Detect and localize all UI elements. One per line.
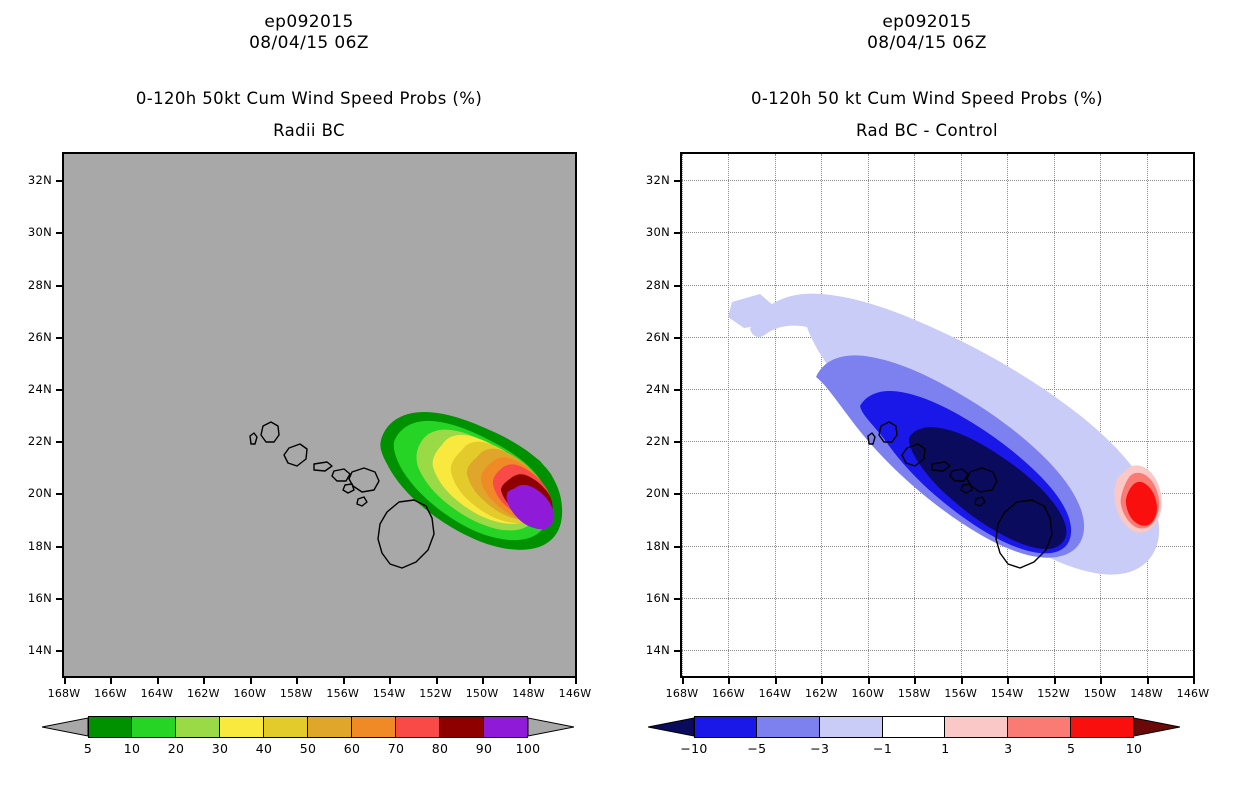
colorbar-tick-label: 3 xyxy=(986,742,1030,756)
colorbar-tick-label: 10 xyxy=(1112,742,1156,756)
y-tick-label: 20N xyxy=(610,488,670,499)
x-tick-label: 146W xyxy=(549,688,601,699)
map-area-left[interactable] xyxy=(62,152,577,678)
x-tick-label: 156W xyxy=(935,688,987,699)
x-tick-mark xyxy=(1007,678,1009,684)
plot-title-left: 0-120h 50kt Cum Wind Speed Probs (%) xyxy=(0,88,618,109)
colorbar-tick-label: 10 xyxy=(110,742,154,756)
y-tick-label: 20N xyxy=(0,488,52,499)
y-tick-label: 14N xyxy=(610,645,670,656)
x-tick-label: 154W xyxy=(981,688,1033,699)
x-tick-mark xyxy=(250,678,252,684)
y-tick-label: 26N xyxy=(0,332,52,343)
colorbar-segment xyxy=(1071,716,1134,738)
colorbar-tick-label: 30 xyxy=(198,742,242,756)
colorbar-segment xyxy=(352,716,396,738)
x-tick-label: 166W xyxy=(84,688,136,699)
colorbar-segment xyxy=(308,716,352,738)
x-tick-label: 162W xyxy=(177,688,229,699)
x-tick-mark xyxy=(868,678,870,684)
plot-subtitle-right: Rad BC - Control xyxy=(618,120,1236,141)
y-tick-label: 28N xyxy=(610,280,670,291)
y-tick-label: 16N xyxy=(610,593,670,604)
x-tick-mark xyxy=(343,678,345,684)
x-tick-label: 158W xyxy=(270,688,322,699)
colorbar-segment xyxy=(88,716,132,738)
colorbar-tick-label: 100 xyxy=(506,742,550,756)
x-tick-label: 168W xyxy=(656,688,708,699)
colorbar-segment xyxy=(396,716,440,738)
x-tick-label: 156W xyxy=(317,688,369,699)
plot-subtitle-left: Radii BC xyxy=(0,120,618,141)
x-tick-mark xyxy=(203,678,205,684)
y-tick-label: 30N xyxy=(0,227,52,238)
colorbar-cap-high-left xyxy=(528,716,574,738)
x-tick-mark xyxy=(389,678,391,684)
y-tick-label: 18N xyxy=(610,541,670,552)
x-tick-mark xyxy=(1054,678,1056,684)
x-tick-mark xyxy=(64,678,66,684)
date-label-left: 08/04/15 06Z xyxy=(0,33,618,54)
panel-rad-bc-control: ep092015 08/04/15 06Z 0-120h 50 kt Cum W… xyxy=(618,0,1236,800)
x-tick-label: 160W xyxy=(842,688,894,699)
colorbar-segment xyxy=(484,716,528,738)
colorbar-segment xyxy=(220,716,264,738)
y-tick-label: 24N xyxy=(610,384,670,395)
x-tick-mark xyxy=(1100,678,1102,684)
map-area-right[interactable] xyxy=(680,152,1195,678)
colorbar-tick-label: 5 xyxy=(66,742,110,756)
colorbar-segment xyxy=(176,716,220,738)
y-tick-label: 30N xyxy=(610,227,670,238)
plot-title-right: 0-120h 50 kt Cum Wind Speed Probs (%) xyxy=(618,88,1236,109)
x-tick-mark xyxy=(157,678,159,684)
colorbar-segment xyxy=(1008,716,1071,738)
y-tick-label: 22N xyxy=(610,436,670,447)
colorbar-tick-label: 50 xyxy=(286,742,330,756)
x-tick-label: 168W xyxy=(38,688,90,699)
x-tick-mark xyxy=(436,678,438,684)
difference-field-right xyxy=(682,154,1193,676)
colorbar-segment xyxy=(132,716,176,738)
x-tick-label: 148W xyxy=(503,688,555,699)
prob-contours xyxy=(380,188,570,550)
colorbar-segment xyxy=(945,716,1008,738)
x-tick-label: 158W xyxy=(888,688,940,699)
x-tick-label: 146W xyxy=(1167,688,1219,699)
x-tick-mark xyxy=(728,678,730,684)
x-tick-label: 162W xyxy=(795,688,847,699)
colorbar-cap-low-left xyxy=(42,716,88,738)
x-tick-label: 150W xyxy=(456,688,508,699)
x-tick-mark xyxy=(961,678,963,684)
colorbar-segment xyxy=(440,716,484,738)
x-tick-label: 154W xyxy=(363,688,415,699)
x-tick-label: 166W xyxy=(702,688,754,699)
date-label-right: 08/04/15 06Z xyxy=(618,33,1236,54)
y-tick-label: 28N xyxy=(0,280,52,291)
x-tick-mark xyxy=(1193,678,1195,684)
x-tick-label: 160W xyxy=(224,688,276,699)
x-tick-mark xyxy=(914,678,916,684)
contour-field-left xyxy=(64,154,575,676)
colorbar-segments-left xyxy=(88,716,528,738)
colorbar-segment xyxy=(820,716,883,738)
gridline-vertical xyxy=(1193,154,1194,676)
colorbar-tick-label: 5 xyxy=(1049,742,1093,756)
y-tick-label: 14N xyxy=(0,645,52,656)
x-tick-label: 150W xyxy=(1074,688,1126,699)
colorbar-cap-low-right xyxy=(648,716,694,738)
y-tick-label: 26N xyxy=(610,332,670,343)
x-tick-mark xyxy=(482,678,484,684)
colorbar-tick-label: −5 xyxy=(735,742,779,756)
colorbar-cap-high-right xyxy=(1134,716,1180,738)
x-tick-mark xyxy=(682,678,684,684)
storm-id-left: ep092015 xyxy=(0,12,618,33)
y-tick-label: 16N xyxy=(0,593,52,604)
x-tick-mark xyxy=(1147,678,1149,684)
x-tick-label: 152W xyxy=(1028,688,1080,699)
colorbar-segment xyxy=(694,716,757,738)
colorbar-tick-label: −3 xyxy=(798,742,842,756)
y-tick-label: 32N xyxy=(0,175,52,186)
x-tick-label: 164W xyxy=(749,688,801,699)
colorbar-segments-right xyxy=(694,716,1134,738)
colorbar-tick-label: 1 xyxy=(923,742,967,756)
colorbar-tick-label: 80 xyxy=(418,742,462,756)
y-tick-label: 22N xyxy=(0,436,52,447)
y-tick-label: 24N xyxy=(0,384,52,395)
colorbar-ticklabels-right: −10−5−3−113510 xyxy=(618,742,1236,758)
x-tick-mark xyxy=(775,678,777,684)
x-tick-label: 148W xyxy=(1121,688,1173,699)
colorbar-tick-label: 90 xyxy=(462,742,506,756)
colorbar-tick-label: −10 xyxy=(672,742,716,756)
x-tick-mark xyxy=(110,678,112,684)
x-tick-label: 164W xyxy=(131,688,183,699)
colorbar-segment xyxy=(264,716,308,738)
x-tick-label: 152W xyxy=(410,688,462,699)
colorbar-tick-label: 70 xyxy=(374,742,418,756)
colorbar-tick-label: 20 xyxy=(154,742,198,756)
x-tick-mark xyxy=(296,678,298,684)
x-tick-mark xyxy=(575,678,577,684)
x-tick-mark xyxy=(529,678,531,684)
y-tick-label: 32N xyxy=(610,175,670,186)
colorbar-segment xyxy=(757,716,820,738)
colorbar-tick-label: 40 xyxy=(242,742,286,756)
colorbar-tick-label: −1 xyxy=(861,742,905,756)
panel-radii-bc: ep092015 08/04/15 06Z 0-120h 50kt Cum Wi… xyxy=(0,0,618,800)
colorbar-segment xyxy=(883,716,946,738)
colorbar-ticklabels-left: 5102030405060708090100 xyxy=(0,742,618,758)
y-tick-label: 18N xyxy=(0,541,52,552)
x-tick-mark xyxy=(821,678,823,684)
storm-id-right: ep092015 xyxy=(618,12,1236,33)
colorbar-tick-label: 60 xyxy=(330,742,374,756)
difference-contours xyxy=(728,294,1162,575)
